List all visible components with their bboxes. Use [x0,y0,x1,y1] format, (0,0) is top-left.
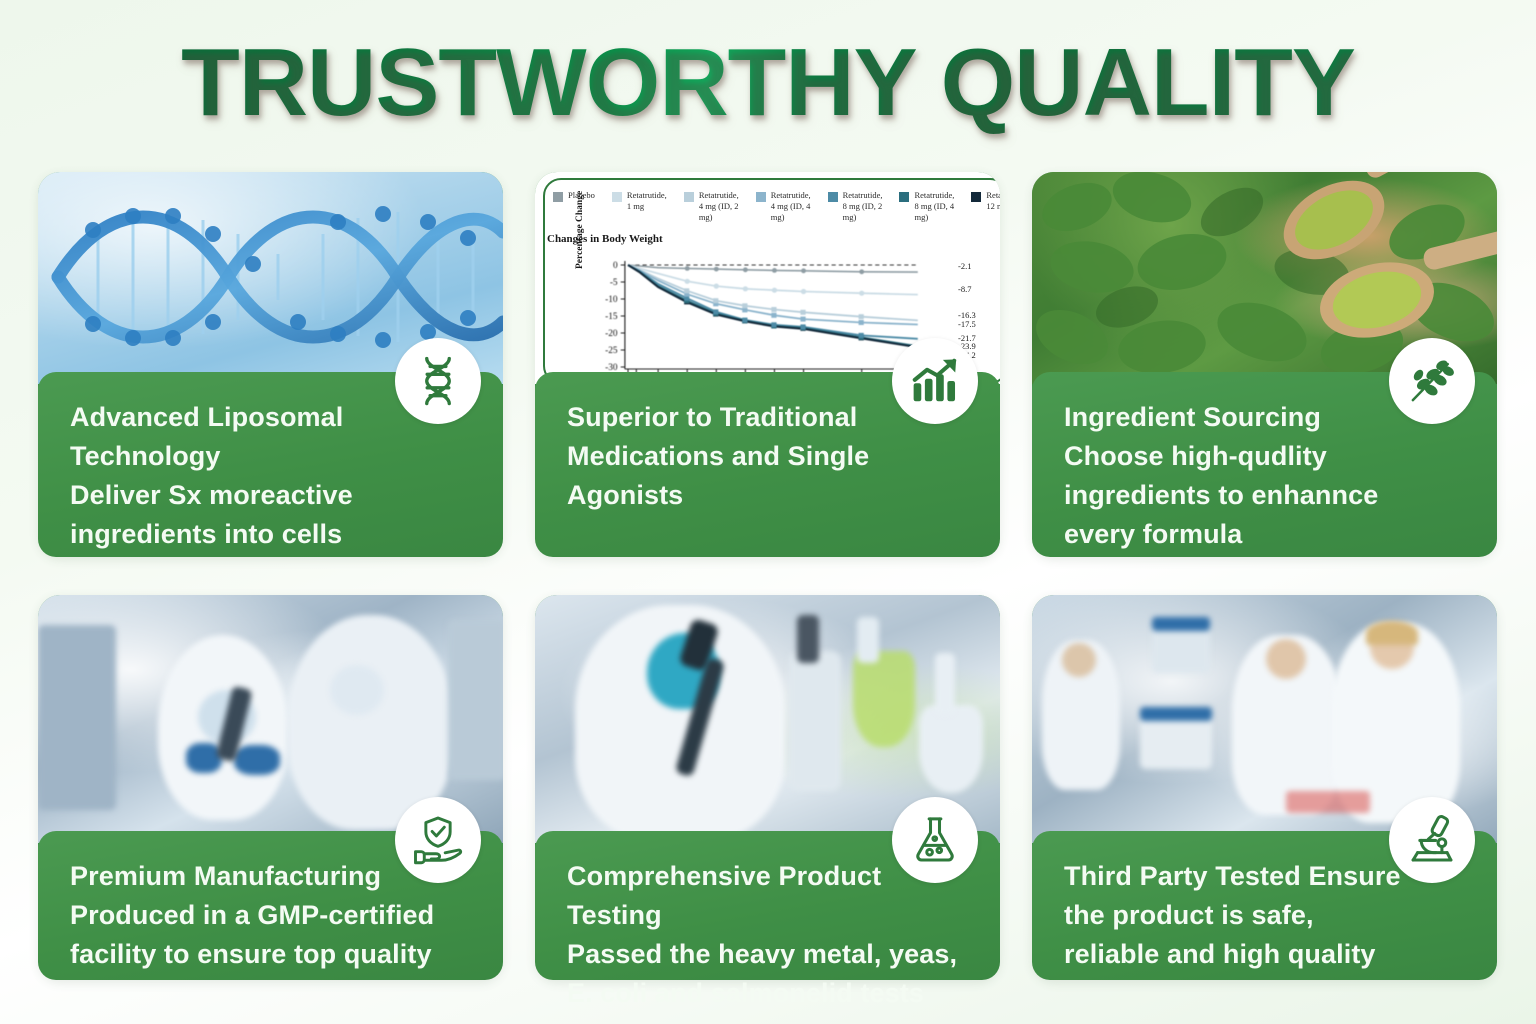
microscope-icon-glyph [1405,813,1459,867]
flask-icon-glyph [908,813,962,867]
feature-card-advanced-liposomal-technology[interactable]: Advanced Liposomal Technology Deliver Sx… [38,172,503,557]
svg-text:-20: -20 [605,328,618,338]
legend-label: Retatrutide, 1 mg [627,190,667,212]
legend-item: Retatrutide, 8 mg (ID, 4 mg) [899,190,954,223]
svg-text:-15: -15 [605,311,618,321]
legend-item: Retatrutide, 4 mg (ID, 2 mg) [684,190,739,223]
legend-swatch [899,192,909,202]
infographic-page: TRUSTWORTHY QUALITY [0,0,1536,1024]
hand-shield-check-icon [395,797,481,883]
legend-label: Retatrutide, 12 mg (ID, [986,190,1000,212]
hand-shield-check-icon-glyph [411,813,465,867]
svg-text:-10: -10 [605,294,618,304]
feature-card-ingredient-sourcing[interactable]: Ingredient Sourcing Choose high-qudlity … [1032,172,1497,557]
flask-icon [892,797,978,883]
end-label-placebo: -2.1 [958,261,971,272]
bar-chart-growth-icon-glyph [908,354,962,408]
legend-item: Retatrutide, 4 mg (ID, 4 mg) [756,190,811,223]
leaf-branch-icon-glyph [1405,354,1459,408]
legend-item: Retatrutide, 8 mg (ID, 2 mg) [828,190,883,223]
page-title-container: TRUSTWORTHY QUALITY [0,24,1536,144]
card-text: Comprehensive Product Testing Passed the… [567,857,970,1013]
legend-item: Retatrutide, 12 mg (ID, [971,190,1000,212]
legend-label: Retatrutide, 8 mg (ID, 4 mg) [914,190,954,223]
legend-swatch [828,192,838,202]
end-label-4mg-id4: -17.5 [958,319,976,330]
dna-helix-icon-glyph [411,354,465,408]
chart-title: Changes in Body Weight [545,232,1000,245]
legend-item: Retatrutide, 1 mg [612,190,667,212]
svg-text:-30: -30 [605,362,618,372]
card-text: Ingredient Sourcing Choose high-qudlity … [1064,398,1467,554]
legend-swatch [553,192,563,202]
feature-card-premium-manufacturing[interactable]: Premium Manufacturing Produced in a GMP-… [38,595,503,980]
legend-swatch [756,192,766,202]
legend-swatch [684,192,694,202]
bar-chart-growth-icon [892,338,978,424]
legend-label: Retatrutide, 8 mg (ID, 2 mg) [843,190,883,223]
leaf-branch-icon [1389,338,1475,424]
end-label-1mg: -8.7 [958,284,971,295]
feature-card-comprehensive-product-testing[interactable]: Comprehensive Product Testing Passed the… [535,595,1000,980]
legend-item: Placebo [553,190,595,202]
card-text: Advanced Liposomal Technology Deliver Sx… [70,398,473,554]
svg-text:-5: -5 [610,277,618,287]
page-title: TRUSTWORTHY QUALITY [181,24,1355,142]
feature-card-grid: Advanced Liposomal Technology Deliver Sx… [38,172,1500,980]
legend-label: Retatrutide, 4 mg (ID, 4 mg) [771,190,811,223]
svg-text:-25: -25 [605,345,618,355]
microscope-icon [1389,797,1475,883]
feature-card-third-party-tested[interactable]: Third Party Tested Ensure the product is… [1032,595,1497,980]
legend-label: Retatrutide, 4 mg (ID, 2 mg) [699,190,739,223]
chart-legend: Placebo Retatrutide, 1 mg Retatrutide, 4… [545,180,1000,232]
legend-swatch [612,192,622,202]
feature-card-superior-to-traditional-medications[interactable]: Placebo Retatrutide, 1 mg Retatrutide, 4… [535,172,1000,557]
svg-text:0: 0 [613,260,618,270]
legend-swatch [971,192,981,202]
dna-helix-icon [395,338,481,424]
